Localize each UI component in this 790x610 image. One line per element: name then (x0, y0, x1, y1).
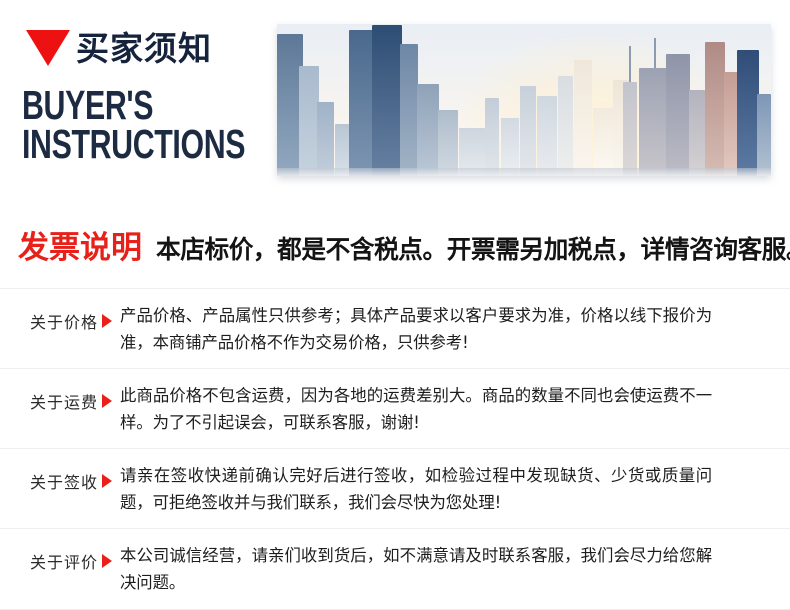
row-label-text: 关于评价 (30, 549, 98, 573)
row-body-shipping: 此商品价格不包含运费，因为各地的运费差别大。商品的数量不同也会使运费不一样。为了… (120, 382, 790, 436)
ground-haze (277, 168, 771, 176)
triangle-right-icon (102, 554, 112, 568)
row-label-review: 关于评价 (0, 542, 120, 573)
building (537, 96, 557, 176)
building (400, 44, 418, 176)
building (317, 102, 334, 176)
row-label-text: 关于价格 (30, 309, 98, 333)
building (372, 25, 402, 176)
triangle-right-icon (102, 394, 112, 408)
page-title-en-line2: INSTRUCTIONS (22, 125, 213, 164)
row-label-receipt: 关于签收 (0, 462, 120, 493)
building (520, 86, 536, 176)
row-body-price: 产品价格、产品属性只供参考；具体产品要求以客户要求为准，价格以线下报价为准，本商… (120, 302, 790, 356)
building (574, 60, 592, 176)
building (349, 30, 373, 176)
invoice-label: 发票说明 (18, 222, 142, 267)
triangle-right-icon (102, 474, 112, 488)
building (438, 110, 458, 176)
antenna-spire (629, 46, 631, 82)
building (485, 98, 499, 176)
title-block: 买家须知 BUYER'S INSTRUCTIONS (18, 24, 280, 165)
building (666, 54, 690, 176)
list-item: 关于签收 请亲在签收快递前确认完好后进行签收，如检验过程中发现缺货、少货或质量问… (0, 449, 790, 529)
row-label-shipping: 关于运费 (0, 382, 120, 413)
list-item: 关于价格 产品价格、产品属性只供参考；具体产品要求以客户要求为准，价格以线下报价… (0, 288, 790, 369)
invoice-headline: 发票说明 本店标价，都是不含税点。开票需另加税点，详情咨询客服。 (18, 222, 780, 267)
page-title-cn: 买家须知 (76, 32, 212, 65)
row-body-receipt: 请亲在签收快递前确认完好后进行签收，如检验过程中发现缺货、少货或质量问题，可拒绝… (120, 462, 790, 516)
list-item: 关于评价 本公司诚信经营，请亲们收到货后，如不满意请及时联系客服，我们会尽力给您… (0, 529, 790, 609)
building (299, 66, 319, 176)
building (639, 68, 667, 176)
building (689, 90, 705, 176)
page-title-en: BUYER'S INSTRUCTIONS (22, 86, 213, 165)
antenna-spire (654, 38, 656, 70)
row-label-text: 关于签收 (30, 469, 98, 493)
city-skyline-photo (277, 24, 771, 176)
chinese-title-row: 买家须知 (18, 24, 280, 72)
building (417, 84, 439, 176)
building (593, 108, 615, 176)
invoice-text: 本店标价，都是不含税点。开票需另加税点，详情咨询客服。 (156, 230, 790, 266)
page-header: 买家须知 BUYER'S INSTRUCTIONS (0, 0, 790, 200)
building (737, 50, 759, 176)
building (623, 82, 637, 176)
list-item: 关于运费 此商品价格不包含运费，因为各地的运费差别大。商品的数量不同也会使运费不… (0, 369, 790, 449)
instructions-list: 关于价格 产品价格、产品属性只供参考；具体产品要求以客户要求为准，价格以线下报价… (0, 288, 790, 610)
row-label-text: 关于运费 (30, 389, 98, 413)
triangle-right-icon (102, 314, 112, 328)
building (724, 72, 738, 176)
building (558, 76, 573, 176)
row-label-price: 关于价格 (0, 302, 120, 333)
building (705, 42, 725, 176)
row-body-review: 本公司诚信经营，请亲们收到货后，如不满意请及时联系客服，我们会尽力给您解决问题。 (120, 542, 790, 596)
triangle-down-icon (26, 30, 70, 66)
building (757, 94, 771, 176)
